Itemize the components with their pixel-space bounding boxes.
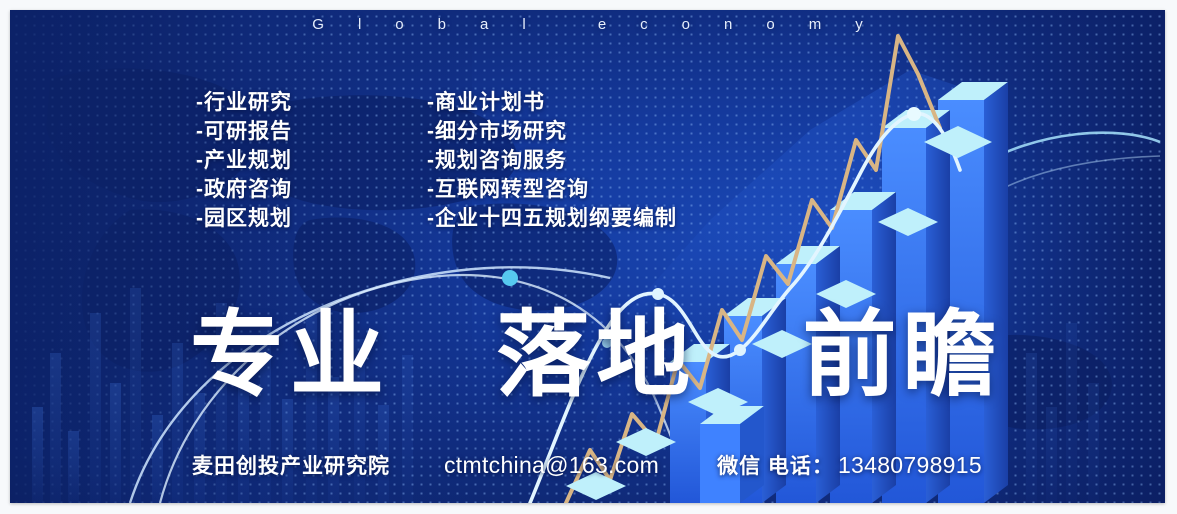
service-item: -商业计划书	[427, 88, 677, 117]
service-item: -互联网转型咨询	[427, 175, 677, 204]
footer-contact-bar: 麦田创投产业研究院 ctmtchina@163.com 微信 电话： 13480…	[192, 450, 982, 480]
service-item: -规划咨询服务	[427, 146, 677, 175]
wechat-phone-label: 微信 电话：	[717, 450, 834, 480]
service-list-left: -行业研究 -可研报告 -产业规划 -政府咨询 -园区规划	[196, 88, 292, 233]
service-item: -可研报告	[196, 117, 292, 146]
economy-chart	[10, 10, 1165, 503]
organization-name: 麦田创投产业研究院	[192, 450, 390, 480]
service-item: -细分市场研究	[427, 117, 677, 146]
headline-word-1: 专业	[190, 308, 390, 402]
service-list-right: -商业计划书 -细分市场研究 -规划咨询服务 -互联网转型咨询 -企业十四五规划…	[427, 88, 677, 233]
service-item: -行业研究	[196, 88, 292, 117]
email-address[interactable]: ctmtchina@163.com	[444, 452, 659, 479]
service-item: -政府咨询	[196, 175, 292, 204]
headline-word-2: 落地	[496, 308, 696, 402]
headline: 专业 落地 前瞻	[190, 308, 1003, 402]
service-item: -产业规划	[196, 146, 292, 175]
phone-number[interactable]: 13480798915	[838, 452, 982, 479]
headline-word-3: 前瞻	[803, 308, 1003, 402]
promo-banner: Global economy -行业研究 -可研报告 -产业规划 -政府咨询 -…	[10, 10, 1165, 503]
service-item: -园区规划	[196, 204, 292, 233]
service-item: -企业十四五规划纲要编制	[427, 204, 677, 233]
